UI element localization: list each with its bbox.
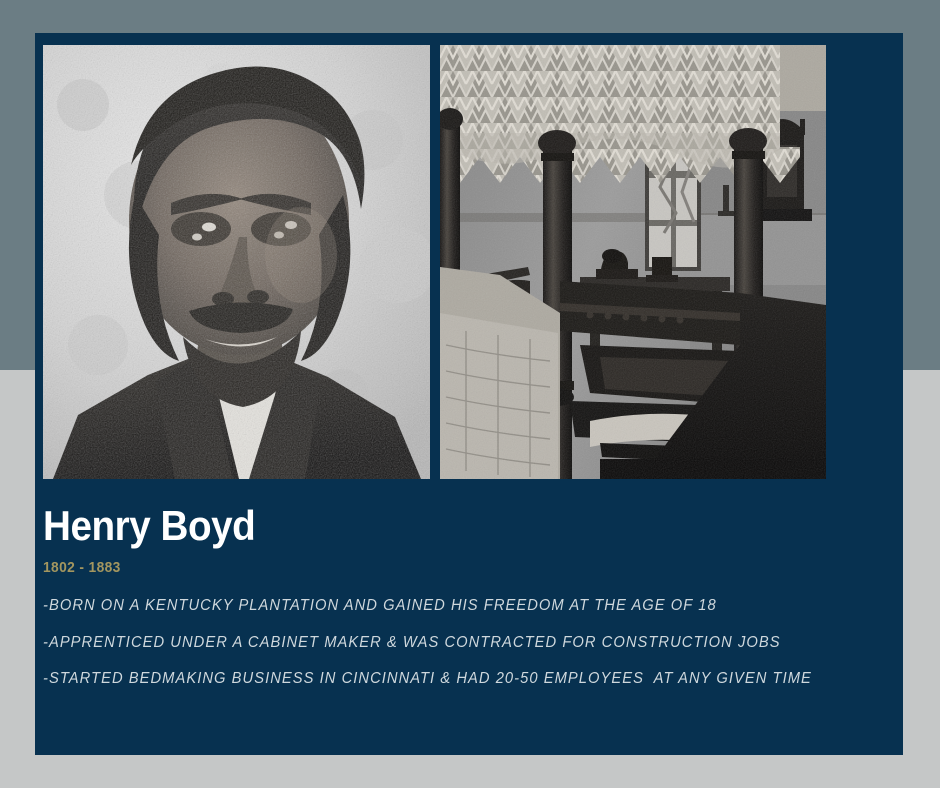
fact-item: -BORN ON A KENTUCKY PLANTATION AND GAINE… xyxy=(43,598,794,614)
henry-boyd-portrait-photo xyxy=(43,45,430,479)
fact-item: -APPRENTICED UNDER A CABINET MAKER & WAS… xyxy=(43,635,794,651)
four-poster-bed-photo xyxy=(440,45,826,479)
lifespan-years: 1802 - 1883 xyxy=(43,559,770,576)
page-title: Henry Boyd xyxy=(43,505,770,547)
photo-row xyxy=(43,45,828,479)
fact-item: -STARTED BEDMAKING BUSINESS IN CINCINNAT… xyxy=(43,671,794,687)
caption-block: Henry Boyd 1802 - 1883 -BORN ON A KENTUC… xyxy=(43,505,833,708)
